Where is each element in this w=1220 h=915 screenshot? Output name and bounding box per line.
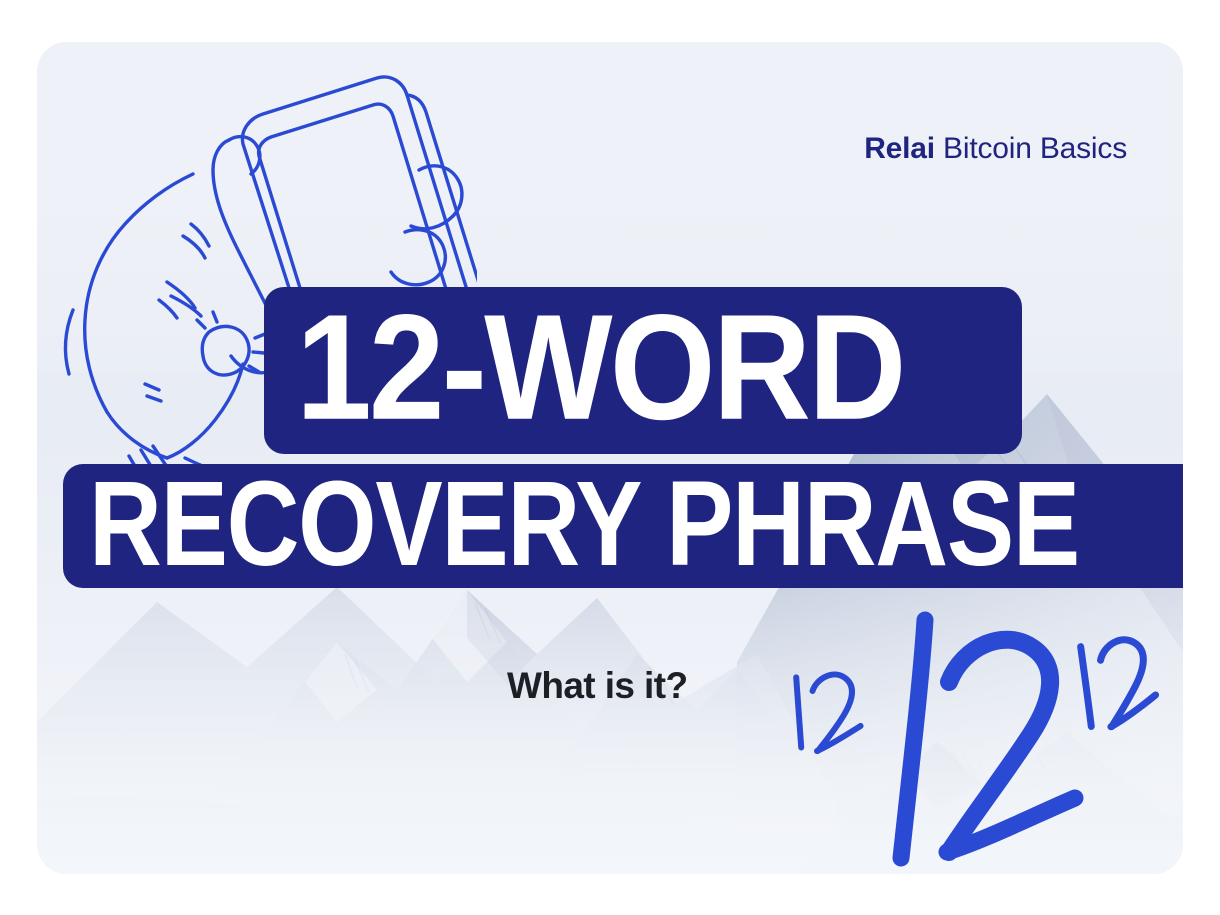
brand-name: Relai: [864, 132, 935, 165]
headline-banner-line2: RECOVERY PHRASE: [63, 464, 1183, 588]
slide-page: Relai Bitcoin Basics 12-WORD RECOVERY PH…: [0, 0, 1220, 915]
handwritten-twelve-small-left: [772, 657, 882, 767]
handwritten-twelve-small-right: [1057, 625, 1177, 745]
subtitle-question: What is it?: [507, 665, 687, 707]
headline-banner-line1: 12-WORD: [264, 287, 1022, 454]
headline-line1-text: 12-WORD: [296, 292, 904, 442]
brand-suffix: Bitcoin Basics: [935, 132, 1127, 165]
slide-card: Relai Bitcoin Basics 12-WORD RECOVERY PH…: [37, 42, 1183, 874]
headline-line2-text: RECOVERY PHRASE: [89, 464, 1079, 584]
brand-lockup: Relai Bitcoin Basics: [864, 132, 1127, 166]
